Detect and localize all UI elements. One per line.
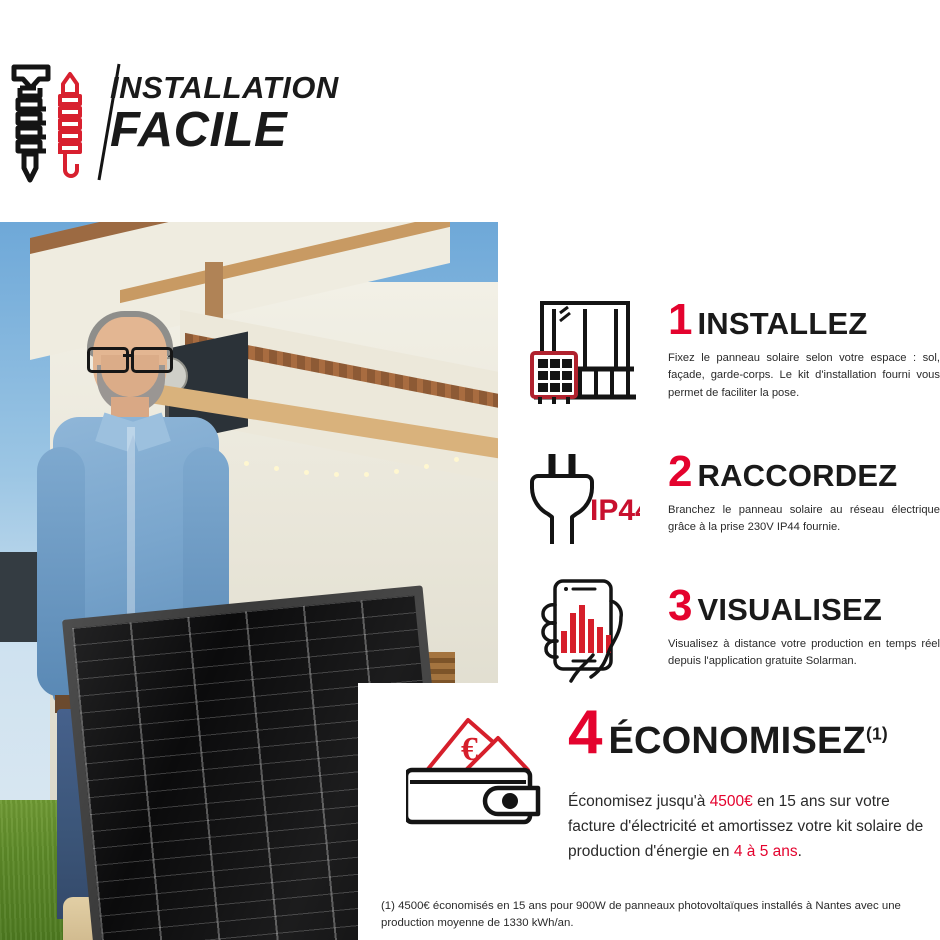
header-banner: INSTALLATION FACILE xyxy=(0,0,940,210)
step-3-visualisez: 3 VISUALISEZ Visualisez à distance votre… xyxy=(668,586,940,671)
wallet-euro-banknotes-icon: € xyxy=(406,712,551,827)
plug-ip44-label: IP44 xyxy=(590,494,640,527)
step-3-number: 3 xyxy=(668,586,692,626)
step-4-title: ÉCONOMISEZ(1) xyxy=(608,720,887,763)
step-2-heading: 2 RACCORDEZ xyxy=(668,452,940,494)
step-4-body-part-3: . xyxy=(798,843,802,860)
step-4-heading: 4 ÉCONOMISEZ(1) xyxy=(568,705,940,763)
savings-amount-highlight: 4500€ xyxy=(710,793,753,810)
step-3-title: VISUALISEZ xyxy=(697,592,882,628)
euro-symbol: € xyxy=(461,731,478,768)
balcony-solar-panel-icon xyxy=(530,297,640,407)
step-1-installez: 1 INSTALLEZ Fixez le panneau solaire sel… xyxy=(668,300,940,402)
step-4-title-superscript: (1) xyxy=(866,723,888,743)
man-glasses xyxy=(85,347,177,367)
logo-line-facile: FACILE xyxy=(110,105,339,156)
step-4-number: 4 xyxy=(568,705,602,761)
payback-period-highlight: 4 à 5 ans xyxy=(734,843,798,860)
step-3-body: Visualisez à distance votre production e… xyxy=(668,636,940,671)
solar-module-glyph xyxy=(532,353,576,397)
infographic-page: INSTALLATION FACILE xyxy=(0,0,940,940)
power-plug-icon: IP44 xyxy=(530,450,640,550)
step-1-body: Fixez le panneau solaire selon votre esp… xyxy=(668,350,940,402)
step-4-body: Économisez jusqu'à 4500€ en 15 ans sur v… xyxy=(568,789,940,864)
logo-line-installation: INSTALLATION xyxy=(110,72,339,103)
screw-anchor-icon-group xyxy=(8,62,94,184)
step-2-body: Branchez le panneau solaire au réseau él… xyxy=(668,502,940,537)
step-1-number: 1 xyxy=(668,300,692,340)
step-2-title: RACCORDEZ xyxy=(697,458,897,494)
footnote-disclaimer: (1) 4500€ économisés en 15 ans pour 900W… xyxy=(381,898,937,932)
screw-anchor-black-icon xyxy=(14,67,48,180)
step-1-heading: 1 INSTALLEZ xyxy=(668,300,940,342)
step-4-title-text: ÉCONOMISEZ xyxy=(608,720,865,762)
hand-holding-phone-chart-icon xyxy=(533,575,643,687)
logo-text-block: INSTALLATION FACILE xyxy=(110,72,339,156)
step-4-economisez: 4 ÉCONOMISEZ(1) Économisez jusqu'à 4500€… xyxy=(568,705,940,864)
step-1-title: INSTALLEZ xyxy=(697,306,867,342)
screw-anchor-red-icon xyxy=(58,74,80,176)
step-4-body-part-1: Économisez jusqu'à xyxy=(568,793,710,810)
step-2-number: 2 xyxy=(668,452,692,492)
step-2-raccordez: 2 RACCORDEZ Branchez le panneau solaire … xyxy=(668,452,940,537)
step-3-heading: 3 VISUALISEZ xyxy=(668,586,940,628)
